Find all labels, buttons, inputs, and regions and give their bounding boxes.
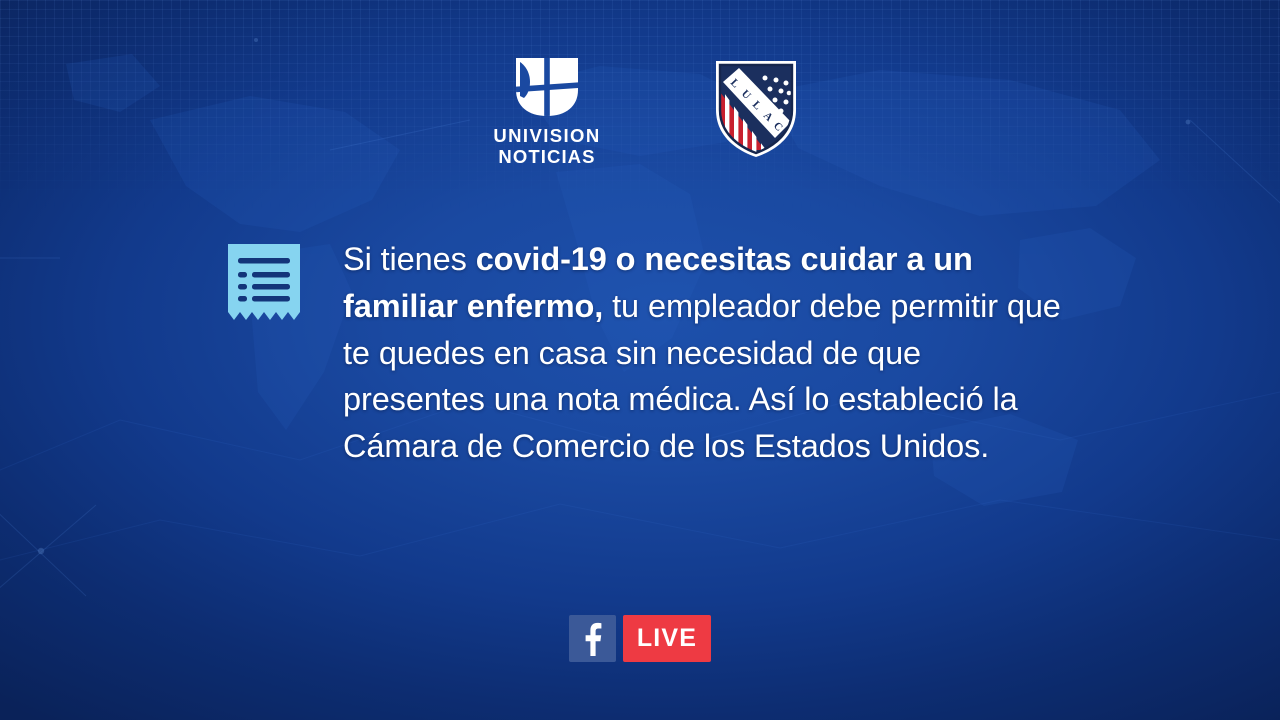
lulac-shield-icon: L U L A C (713, 58, 799, 158)
univision-wordmark: UNIVISION (493, 127, 600, 146)
noticias-wordmark: NOTICIAS (498, 148, 595, 167)
broadcast-lower-third-slate: UNIVISION NOTICIAS (0, 0, 1280, 720)
facebook-f-icon (581, 622, 603, 656)
facebook-live-badge: LIVE (0, 615, 1280, 662)
live-tile: LIVE (623, 615, 711, 662)
message-lead: Si tienes (343, 241, 476, 277)
live-label: LIVE (637, 626, 697, 651)
message-block: Si tienes covid-19 o necesitas cuidar a … (228, 236, 1130, 470)
message-text: Si tienes covid-19 o necesitas cuidar a … (343, 236, 1067, 470)
univision-noticias-logo: UNIVISION NOTICIAS (481, 56, 613, 167)
univision-u-shield-icon (514, 56, 580, 118)
document-receipt-icon (228, 244, 300, 328)
facebook-logo-tile (569, 615, 616, 662)
logo-row: UNIVISION NOTICIAS (0, 56, 1280, 167)
